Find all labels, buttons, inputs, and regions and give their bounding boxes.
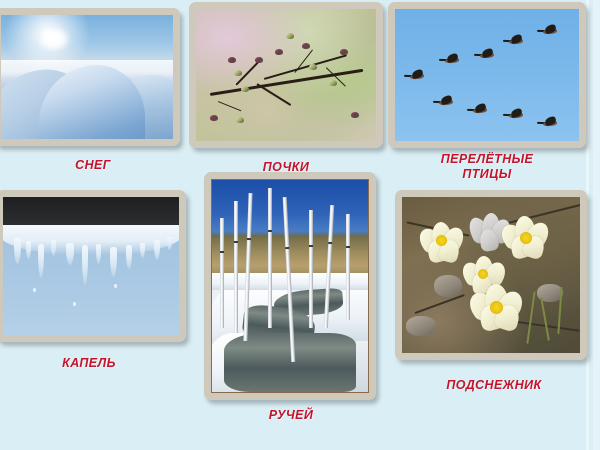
icicle-4 bbox=[51, 240, 56, 256]
bud-4 bbox=[255, 57, 263, 63]
caption-birds: ПЕРЕЛЁТНЫЕ ПТИЦЫ bbox=[404, 152, 570, 182]
icicle-10 bbox=[140, 243, 145, 258]
photo-buds bbox=[196, 9, 376, 141]
icicle-11 bbox=[154, 240, 160, 260]
branch-fork-a bbox=[257, 83, 291, 105]
photo-card-birds[interactable] bbox=[388, 2, 586, 148]
goose-1 bbox=[406, 70, 428, 81]
birch-trunk-5 bbox=[309, 210, 313, 329]
photo-flower bbox=[402, 197, 580, 353]
caption-brook: РУЧЕЙ bbox=[232, 408, 350, 423]
sun-glow-icon bbox=[37, 26, 71, 52]
bud-11 bbox=[210, 115, 218, 121]
goose-2 bbox=[441, 54, 463, 65]
birch-trunk-1 bbox=[234, 201, 238, 332]
icicle-9 bbox=[126, 245, 132, 269]
icicle-8 bbox=[110, 247, 117, 277]
caption-flower: ПОДСНЕЖНИК bbox=[406, 378, 582, 393]
photo-snow bbox=[1, 15, 173, 139]
flower-center bbox=[490, 301, 503, 314]
photo-birds bbox=[395, 9, 579, 141]
goose-5 bbox=[539, 25, 561, 36]
bud-1 bbox=[228, 57, 236, 63]
bud-7 bbox=[302, 43, 310, 49]
branch-fork-c bbox=[294, 50, 313, 74]
water-drop-3 bbox=[114, 284, 117, 288]
icicle-12 bbox=[167, 237, 172, 250]
stone-left bbox=[434, 275, 462, 297]
grass-1 bbox=[526, 291, 535, 344]
flower-center bbox=[436, 235, 447, 246]
caption-snow: СНЕГ bbox=[28, 158, 158, 173]
background-stripe-outer bbox=[593, 0, 600, 450]
photo-card-drip[interactable] bbox=[0, 190, 186, 342]
icicle-6 bbox=[82, 245, 88, 285]
twig-3 bbox=[414, 294, 465, 314]
bud-9 bbox=[340, 49, 348, 55]
bud-2 bbox=[234, 70, 242, 76]
bud-3 bbox=[241, 86, 249, 92]
grass-2 bbox=[541, 297, 551, 340]
photo-card-buds[interactable] bbox=[189, 2, 383, 148]
snowdrop-bloom-1 bbox=[420, 222, 464, 262]
flower-center bbox=[478, 269, 488, 279]
caption-drip: КАПЕЛЬ bbox=[24, 356, 154, 371]
flower-center bbox=[520, 232, 532, 244]
goose-9 bbox=[539, 117, 561, 128]
goose-7 bbox=[469, 104, 491, 115]
goose-4 bbox=[505, 35, 527, 46]
bud-6 bbox=[286, 33, 294, 39]
photo-card-flower[interactable] bbox=[395, 190, 587, 360]
icicle-1 bbox=[14, 238, 21, 264]
water-drop-2 bbox=[73, 302, 76, 306]
bud-10 bbox=[329, 80, 337, 86]
icicle-7 bbox=[96, 244, 101, 264]
bud-8 bbox=[309, 64, 317, 70]
photo-card-brook[interactable] bbox=[204, 172, 376, 400]
snowdrop-bloom-3 bbox=[502, 216, 548, 258]
water-drop-1 bbox=[33, 288, 36, 292]
goose-3 bbox=[476, 49, 498, 60]
photo-card-snow[interactable] bbox=[0, 8, 180, 146]
icicle-5 bbox=[66, 243, 74, 265]
bud-13 bbox=[351, 112, 359, 118]
slide-canvas: СНЕГ ПОЧКИ bbox=[0, 0, 600, 450]
goose-8 bbox=[505, 109, 527, 120]
icicle-2 bbox=[26, 241, 31, 259]
bud-12 bbox=[236, 117, 244, 123]
photo-drip bbox=[3, 197, 179, 335]
goose-6 bbox=[435, 96, 457, 107]
birch-trunk-7 bbox=[346, 214, 350, 320]
birch-trunk-3 bbox=[268, 188, 272, 328]
birch-trunk-8 bbox=[220, 218, 224, 328]
photo-brook bbox=[211, 179, 369, 393]
stone-bottom bbox=[406, 316, 436, 336]
icicle-3 bbox=[38, 244, 44, 278]
snowdrop-bloom-5 bbox=[470, 284, 522, 330]
bud-5 bbox=[275, 49, 283, 55]
branch-fork-e bbox=[217, 101, 241, 112]
